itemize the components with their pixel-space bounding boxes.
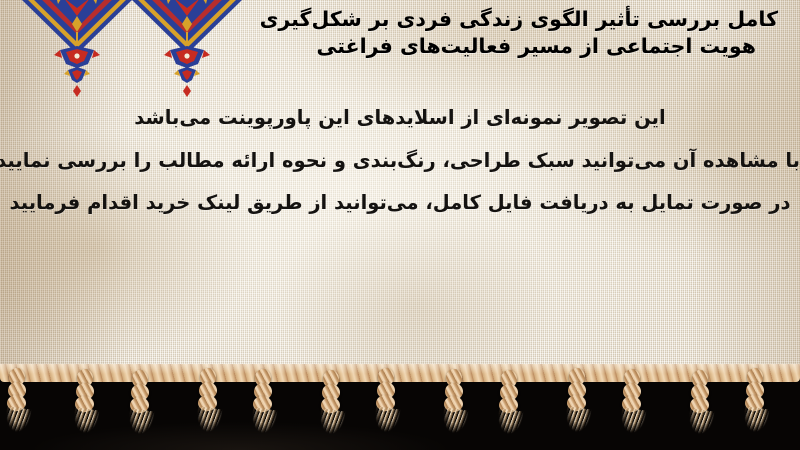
tassel-hair (684, 408, 719, 450)
slide-canvas: کامل بررسی تأثیر الگوی زندگی فردی بر شکل… (0, 0, 800, 450)
fringe-tassel (492, 370, 526, 448)
body-line-3: در صورت تمایل به دریافت فایل کامل، می‌تو… (0, 193, 800, 213)
fringe-tassel (0, 368, 34, 446)
tassel-hair (561, 406, 596, 450)
fringe-tassel (683, 370, 717, 448)
body-line-2: با مشاهده آن می‌توانید سبک طراحی، رنگ‌بن… (0, 151, 800, 171)
tassel-hair (617, 407, 652, 450)
tassel-hair (315, 408, 350, 450)
tassel-hair (69, 407, 104, 450)
tassel-hair (124, 408, 159, 450)
carpet-medallion-icon (18, 0, 136, 104)
fringe-tassel (369, 368, 403, 446)
fringe-tassel (560, 368, 594, 446)
carpet-fringe (0, 360, 800, 450)
fringe-tassel (738, 368, 772, 446)
tassel-hair (438, 407, 473, 450)
body-line-1: این تصویر نمونه‌ای از اسلایدهای این پاور… (0, 108, 800, 128)
fringe-tassel (314, 370, 348, 448)
fringe-tassel (68, 369, 102, 447)
slide-title-line-1: کامل بررسی تأثیر الگوی زندگی فردی بر شکل… (218, 6, 778, 33)
fringe-tassel (246, 369, 280, 447)
tassel-hair (192, 406, 227, 450)
slide-title: کامل بررسی تأثیر الگوی زندگی فردی بر شکل… (218, 6, 778, 59)
tassel-hair (371, 406, 406, 450)
tassel-hair (740, 406, 775, 450)
tassel-hair (248, 407, 283, 450)
fringe-tassel (615, 369, 649, 447)
fringe-tassel (437, 369, 471, 447)
slide-title-line-2: هویت اجتماعی از مسیر فعالیت‌های فراغتی (218, 33, 778, 60)
tassel-hair (1, 406, 36, 450)
fringe-tassel (123, 370, 157, 448)
tassel-hair (494, 408, 529, 450)
fringe-tassel (191, 368, 225, 446)
slide-body-text: این تصویر نمونه‌ای از اسلایدهای این پاور… (0, 108, 800, 213)
